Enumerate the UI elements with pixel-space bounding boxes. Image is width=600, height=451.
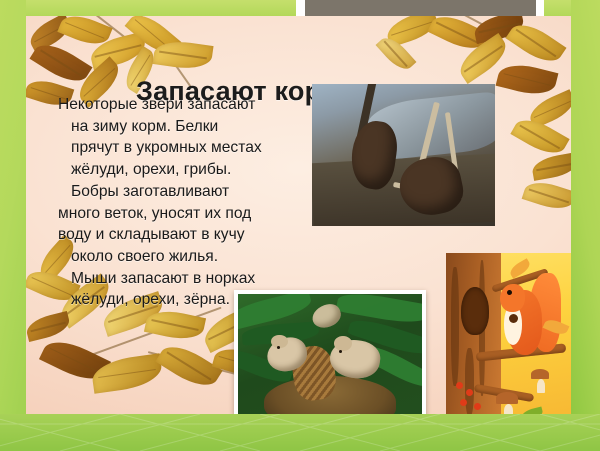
beavers-photo-content [312,84,495,226]
beavers-photo[interactable] [312,84,495,226]
squirrel-illustration-content [446,253,571,416]
body-line: Мыши запасают в норках [58,268,308,290]
right-green-border [571,0,600,451]
bark-texture [465,348,474,416]
presentation-slide: Запасают корм на зиму Некоторые звери за… [0,0,600,451]
mushroom-cap [496,392,518,404]
body-line: жёлуди, орехи, грибы. [58,159,308,181]
squirrel-illustration[interactable] [446,253,571,416]
mice-photo-content [238,294,422,416]
body-line: прячут в укромных местах [58,137,308,159]
mouse-ear [334,336,352,351]
nut-in-paws [509,314,518,323]
body-line: Некоторые звери запасают [58,94,308,116]
white-gap-right [536,0,544,17]
squirrel-head [500,284,525,313]
mushroom-stem [537,379,545,393]
body-line: Бобры заготавливают [58,181,308,203]
autumn-leaf [531,152,571,181]
green-band-pattern [0,414,600,451]
slide-body-text: Некоторые звери запасают на зиму корм. Б… [58,94,308,311]
body-line: много веток, уносят их под [58,203,308,225]
bark-texture [451,267,459,386]
mushroom-cap [531,369,549,379]
autumn-leaf [522,177,571,214]
bottom-green-border [0,414,600,451]
mouse-eye [277,346,280,349]
body-line: воду и складывают в кучу [58,224,308,246]
body-line: около своего жилья. [58,246,308,268]
body-line: на зиму корм. Белки [58,116,308,138]
autumn-leaf [496,59,559,99]
rowan-berry [460,399,467,406]
rowan-berry [474,403,481,410]
slide-canvas: Запасают корм на зиму Некоторые звери за… [26,16,571,416]
mice-photo[interactable] [234,290,426,416]
white-gap-left [296,0,305,17]
mouse-eye [339,350,342,353]
tree-hollow [461,287,489,335]
rowan-berry [466,389,473,396]
gray-header-bar [305,0,536,16]
left-green-border [0,0,26,451]
autumn-leaf [26,311,72,342]
